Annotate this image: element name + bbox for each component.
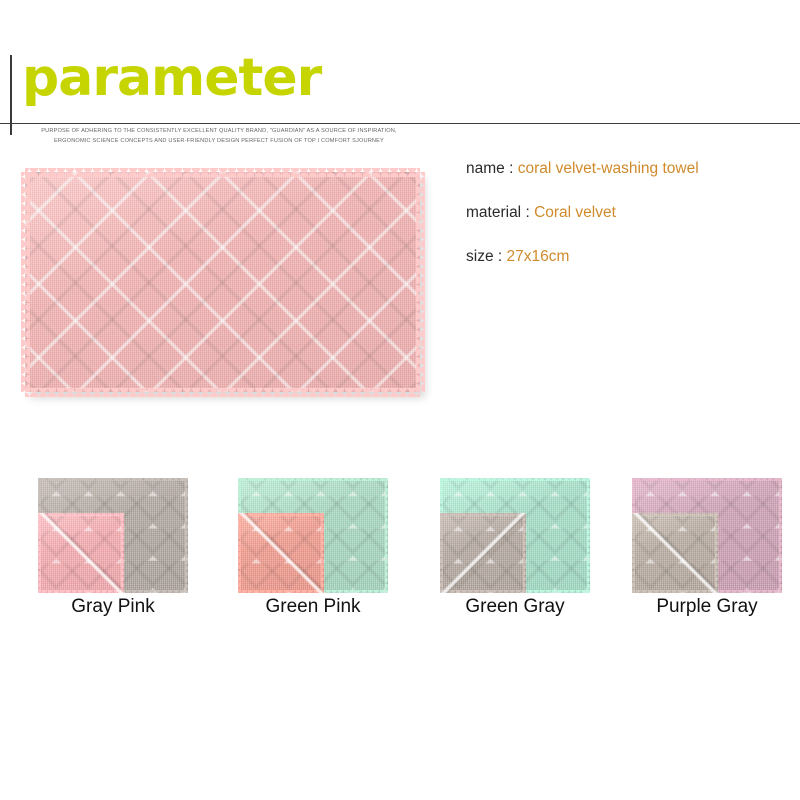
spec-separator: : bbox=[498, 248, 502, 265]
spec-label-name: name bbox=[466, 160, 505, 177]
brand-tagline: PURPOSE OF ADHERING TO THE CONSISTENTLY … bbox=[24, 127, 414, 147]
spec-separator: : bbox=[525, 204, 529, 221]
spec-row-size: size : 27x16cm bbox=[466, 248, 699, 266]
spec-separator: : bbox=[509, 160, 513, 177]
fold-crease bbox=[38, 513, 124, 593]
fold-crease bbox=[632, 513, 718, 593]
variant-folded-corner bbox=[238, 513, 324, 593]
cloth-surface bbox=[25, 172, 420, 392]
header-divider bbox=[0, 123, 800, 124]
fold-crease bbox=[238, 513, 324, 593]
variant-fold-surface bbox=[632, 513, 718, 593]
spec-value-material: Coral velvet bbox=[534, 204, 616, 221]
spec-row-name: name : coral velvet-washing towel bbox=[466, 160, 699, 178]
variant-label: Purple Gray bbox=[632, 596, 782, 618]
variant-folded-corner bbox=[440, 513, 526, 593]
variant-fold-surface bbox=[38, 513, 124, 593]
hero-product-image bbox=[25, 172, 420, 392]
spec-label-size: size bbox=[466, 248, 494, 265]
fiber-grain bbox=[25, 172, 420, 392]
color-variant-2[interactable]: Green Pink bbox=[238, 478, 388, 593]
spec-row-material: material : Coral velvet bbox=[466, 204, 699, 222]
color-variant-1[interactable]: Gray Pink bbox=[38, 478, 188, 593]
spec-list: name : coral velvet-washing towel materi… bbox=[466, 160, 699, 292]
variant-label: Gray Pink bbox=[38, 596, 188, 618]
spec-value-size: 27x16cm bbox=[507, 248, 570, 265]
variant-fold-surface bbox=[238, 513, 324, 593]
variant-folded-corner bbox=[632, 513, 718, 593]
variant-folded-corner bbox=[38, 513, 124, 593]
fold-crease bbox=[440, 513, 526, 593]
color-variant-4[interactable]: Purple Gray bbox=[632, 478, 782, 593]
variant-label: Green Gray bbox=[440, 596, 590, 618]
quilt-texture bbox=[25, 172, 420, 392]
spec-label-material: material bbox=[466, 204, 521, 221]
spec-value-name: coral velvet-washing towel bbox=[518, 160, 699, 177]
variant-fold-surface bbox=[440, 513, 526, 593]
variant-label: Green Pink bbox=[238, 596, 388, 618]
product-parameter-page: parameter PURPOSE OF ADHERING TO THE CON… bbox=[0, 0, 800, 800]
page-title: parameter bbox=[22, 52, 321, 104]
color-variant-3[interactable]: Green Gray bbox=[440, 478, 590, 593]
